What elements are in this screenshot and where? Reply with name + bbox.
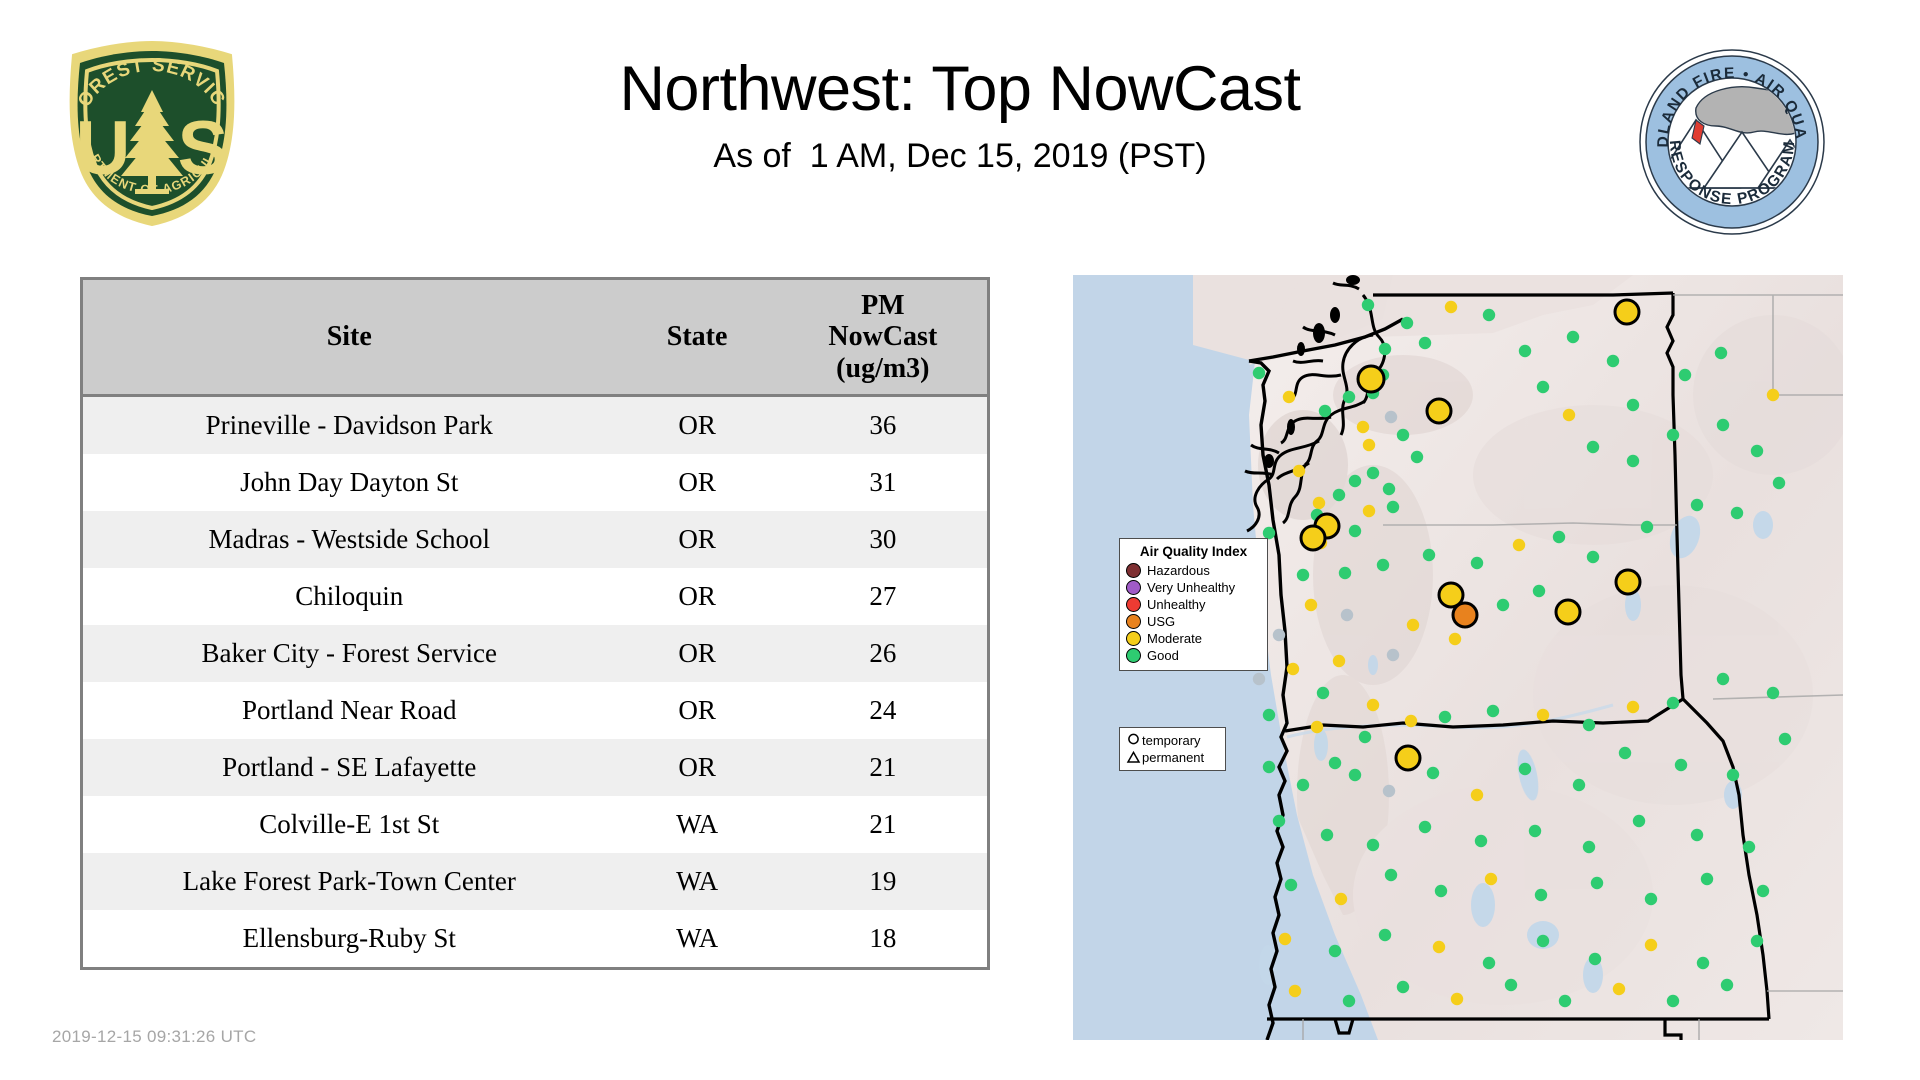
monitor-dot	[1779, 733, 1791, 745]
monitor-dot	[1419, 821, 1431, 833]
monitor-dot	[1397, 429, 1409, 441]
monitor-dot	[1383, 483, 1395, 495]
monitor-dot	[1497, 599, 1509, 611]
cell-pm: 19	[779, 853, 989, 910]
monitor-dot	[1377, 559, 1389, 571]
aqi-swatch-icon	[1126, 648, 1141, 663]
monitor-dot	[1701, 873, 1713, 885]
monitor-dot	[1485, 873, 1497, 885]
monitor-dot	[1319, 405, 1331, 417]
monitor-dot	[1405, 715, 1417, 727]
monitor-dot	[1589, 953, 1601, 965]
monitor-dot	[1675, 759, 1687, 771]
monitor-dot	[1273, 629, 1285, 641]
monitor-dot	[1407, 619, 1419, 631]
monitor-dot	[1519, 345, 1531, 357]
aqi-legend-label: USG	[1147, 614, 1175, 629]
monitor-dot	[1717, 419, 1729, 431]
usfs-letter-s: S	[178, 106, 229, 191]
monitor-dot	[1767, 687, 1779, 699]
monitor-dot	[1553, 531, 1565, 543]
pm-header-line1: PM	[861, 290, 905, 321]
column-header-state: State	[616, 279, 779, 396]
monitor-dot	[1379, 343, 1391, 355]
monitor-dot	[1627, 455, 1639, 467]
top-site-marker[interactable]	[1396, 746, 1420, 770]
column-header-site: Site	[82, 279, 616, 396]
monitor-dot	[1679, 369, 1691, 381]
monitor-dot	[1349, 769, 1361, 781]
monitor-dot	[1573, 779, 1585, 791]
cell-state: OR	[616, 682, 779, 739]
table-row: Baker City - Forest ServiceOR26	[82, 625, 989, 682]
monitor-dot	[1317, 687, 1329, 699]
cell-pm: 21	[779, 796, 989, 853]
usfs-shield-logo: FOREST SERVICE DEPARTMENT OF AGRICULTURE…	[55, 38, 250, 228]
monitor-dot	[1645, 893, 1657, 905]
monitor-dot	[1613, 983, 1625, 995]
page-title: Northwest: Top NowCast	[300, 55, 1620, 123]
table-row: Lake Forest Park-Town CenterWA19	[82, 853, 989, 910]
cell-state: WA	[616, 853, 779, 910]
monitor-dot	[1333, 489, 1345, 501]
cell-pm: 30	[779, 511, 989, 568]
cell-pm: 21	[779, 739, 989, 796]
monitor-dot	[1287, 663, 1299, 675]
monitor-dot	[1591, 877, 1603, 889]
monitor-dot	[1367, 467, 1379, 479]
monitor-dot	[1533, 585, 1545, 597]
monitor-dot	[1283, 391, 1295, 403]
monitor-dot	[1767, 389, 1779, 401]
legend-label-temporary: temporary	[1142, 733, 1201, 748]
aqi-legend-item-hazardous: Hazardous	[1126, 562, 1261, 579]
monitor-dot	[1607, 355, 1619, 367]
monitor-dot	[1619, 747, 1631, 759]
monitor-dot	[1471, 789, 1483, 801]
cell-site: Ellensburg-Ruby St	[82, 910, 616, 969]
monitor-dot	[1529, 825, 1541, 837]
monitor-dot	[1715, 347, 1727, 359]
aqi-legend-label: Good	[1147, 648, 1179, 663]
map-panel[interactable]: Air Quality Index HazardousVery Unhealth…	[1073, 275, 1843, 1040]
monitor-dot	[1297, 569, 1309, 581]
nowcast-table: Site State PM NowCast (ug/m3) Prineville…	[80, 277, 990, 970]
cell-state: OR	[616, 511, 779, 568]
monitor-dot	[1731, 507, 1743, 519]
monitor-dot	[1343, 995, 1355, 1007]
aqi-legend-label: Unhealthy	[1147, 597, 1206, 612]
monitor-dot	[1253, 367, 1265, 379]
top-site-marker[interactable]	[1556, 600, 1580, 624]
table-row: Colville-E 1st StWA21	[82, 796, 989, 853]
monitor-dot	[1751, 935, 1763, 947]
monitor-dot	[1691, 829, 1703, 841]
monitor-dot	[1311, 721, 1323, 733]
aqi-legend-label: Moderate	[1147, 631, 1202, 646]
table-header-row: Site State PM NowCast (ug/m3)	[82, 279, 989, 396]
cell-state: OR	[616, 568, 779, 625]
monitor-dot	[1743, 841, 1755, 853]
table-body: Prineville - Davidson ParkOR36John Day D…	[82, 396, 989, 969]
monitor-dot	[1583, 719, 1595, 731]
monitor-dot	[1385, 411, 1397, 423]
monitor-dot	[1439, 711, 1451, 723]
cell-state: OR	[616, 739, 779, 796]
monitor-dot	[1445, 301, 1457, 313]
cell-state: WA	[616, 910, 779, 969]
table-row: Portland - SE LafayetteOR21	[82, 739, 989, 796]
monitor-dot	[1645, 939, 1657, 951]
cell-pm: 24	[779, 682, 989, 739]
monitor-dot	[1641, 521, 1653, 533]
monitor-dot	[1691, 499, 1703, 511]
aqi-swatch-icon	[1126, 631, 1141, 646]
monitor-dot	[1627, 701, 1639, 713]
aqi-legend-label: Very Unhealthy	[1147, 580, 1235, 595]
cell-site: Portland - SE Lafayette	[82, 739, 616, 796]
top-site-marker[interactable]	[1615, 300, 1639, 324]
monitor-dot	[1263, 761, 1275, 773]
monitor-dot	[1349, 525, 1361, 537]
monitor-dot	[1321, 829, 1333, 841]
monitor-dot	[1363, 439, 1375, 451]
monitor-dot	[1343, 391, 1355, 403]
monitor-dot	[1757, 885, 1769, 897]
triangle-glyph-icon	[1125, 750, 1142, 765]
aqi-legend-label: Hazardous	[1147, 563, 1210, 578]
cell-site: Colville-E 1st St	[82, 796, 616, 853]
monitor-dot	[1721, 979, 1733, 991]
aqi-legend-title: Air Quality Index	[1126, 544, 1261, 559]
aqi-legend-item-very-unhealthy: Very Unhealthy	[1126, 579, 1261, 596]
monitor-dot	[1537, 935, 1549, 947]
table-row: Madras - Westside SchoolOR30	[82, 511, 989, 568]
monitor-dot	[1633, 815, 1645, 827]
monitor-dot	[1289, 985, 1301, 997]
cell-state: OR	[616, 454, 779, 511]
monitor-dot	[1423, 549, 1435, 561]
monitor-type-legend: temporary permanent	[1119, 727, 1226, 771]
table-head: Site State PM NowCast (ug/m3)	[82, 279, 989, 396]
monitor-dot	[1313, 497, 1325, 509]
top-site-marker[interactable]	[1616, 570, 1640, 594]
aqi-legend-item-unhealthy: Unhealthy	[1126, 596, 1261, 613]
cell-site: Madras - Westside School	[82, 511, 616, 568]
cell-pm: 31	[779, 454, 989, 511]
monitor-dot	[1487, 705, 1499, 717]
cell-state: OR	[616, 625, 779, 682]
monitor-dot	[1401, 317, 1413, 329]
monitor-dot	[1567, 331, 1579, 343]
monitor-dot	[1293, 465, 1305, 477]
monitor-dot	[1587, 441, 1599, 453]
monitor-dot	[1717, 673, 1729, 685]
aqi-legend-item-good: Good	[1126, 647, 1261, 664]
monitor-dot	[1385, 869, 1397, 881]
monitor-dot	[1773, 477, 1785, 489]
top-site-marker[interactable]	[1358, 366, 1384, 392]
monitor-dot	[1363, 505, 1375, 517]
monitor-dot	[1667, 429, 1679, 441]
monitor-dot	[1367, 839, 1379, 851]
cell-pm: 26	[779, 625, 989, 682]
usfs-letter-u: U	[76, 106, 131, 191]
pm-header-line2: NowCast	[828, 321, 937, 352]
monitor-dot	[1627, 399, 1639, 411]
monitor-dot	[1383, 785, 1395, 797]
cell-site: Prineville - Davidson Park	[82, 396, 616, 455]
monitor-dot	[1435, 885, 1447, 897]
monitor-dot	[1362, 299, 1374, 311]
monitor-dot	[1483, 957, 1495, 969]
monitor-dot	[1253, 673, 1265, 685]
cell-pm: 18	[779, 910, 989, 969]
monitor-dot	[1273, 815, 1285, 827]
legend-row-permanent: permanent	[1125, 749, 1220, 766]
monitor-dot	[1263, 709, 1275, 721]
monitor-dot	[1335, 893, 1347, 905]
legend-label-permanent: permanent	[1142, 750, 1204, 765]
monitor-dot	[1339, 567, 1351, 579]
monitor-dot	[1697, 957, 1709, 969]
aqi-legend-item-usg: USG	[1126, 613, 1261, 630]
top-site-marker[interactable]	[1301, 526, 1325, 550]
aqi-swatch-icon	[1126, 597, 1141, 612]
monitor-dot	[1333, 655, 1345, 667]
nowcast-table-panel: Site State PM NowCast (ug/m3) Prineville…	[80, 277, 990, 970]
cell-site: John Day Dayton St	[82, 454, 616, 511]
table-row: John Day Dayton StOR31	[82, 454, 989, 511]
aqi-swatch-icon	[1126, 563, 1141, 578]
monitor-dot	[1587, 551, 1599, 563]
table-row: Portland Near RoadOR24	[82, 682, 989, 739]
aqi-swatch-icon	[1126, 614, 1141, 629]
monitor-dot	[1667, 995, 1679, 1007]
monitor-dot	[1279, 933, 1291, 945]
aqi-legend-item-moderate: Moderate	[1126, 630, 1261, 647]
aqi-legend: Air Quality Index HazardousVery Unhealth…	[1119, 538, 1268, 671]
monitor-dot	[1305, 599, 1317, 611]
wfaqrp-logo: WILDLAND FIRE • AIR QUALITY RESPONSE PRO…	[1638, 48, 1826, 236]
monitor-dot	[1563, 409, 1575, 421]
cell-site: Portland Near Road	[82, 682, 616, 739]
page-header: FOREST SERVICE DEPARTMENT OF AGRICULTURE…	[0, 0, 1920, 270]
monitor-dot	[1751, 445, 1763, 457]
monitor-dot	[1349, 475, 1361, 487]
monitor-dot	[1537, 709, 1549, 721]
monitor-dot	[1397, 981, 1409, 993]
monitor-dot	[1471, 557, 1483, 569]
monitor-dot	[1419, 337, 1431, 349]
cell-site: Lake Forest Park-Town Center	[82, 853, 616, 910]
monitor-dot	[1505, 979, 1517, 991]
cell-state: WA	[616, 796, 779, 853]
footer-timestamp: 2019-12-15 09:31:26 UTC	[52, 1027, 256, 1047]
monitor-dot	[1357, 421, 1369, 433]
monitor-dot	[1519, 763, 1531, 775]
monitor-dot	[1329, 757, 1341, 769]
cell-pm: 36	[779, 396, 989, 455]
monitor-dot	[1329, 945, 1341, 957]
monitor-dot	[1367, 699, 1379, 711]
aqi-swatch-icon	[1126, 580, 1141, 595]
monitor-dot	[1411, 451, 1423, 463]
monitor-dot	[1449, 633, 1461, 645]
table-row: ChiloquinOR27	[82, 568, 989, 625]
monitor-dot	[1387, 501, 1399, 513]
cell-site: Baker City - Forest Service	[82, 625, 616, 682]
cell-pm: 27	[779, 568, 989, 625]
pm-header-line3: (ug/m3)	[836, 353, 929, 384]
aqi-legend-rows: HazardousVery UnhealthyUnhealthyUSGModer…	[1126, 562, 1261, 664]
monitor-dot	[1427, 767, 1439, 779]
monitor-dot	[1483, 309, 1495, 321]
monitor-dot	[1387, 649, 1399, 661]
monitor-dot	[1359, 731, 1371, 743]
top-site-marker[interactable]	[1427, 399, 1451, 423]
monitor-dot	[1341, 609, 1353, 621]
table-row: Prineville - Davidson ParkOR36	[82, 396, 989, 455]
monitor-dot	[1535, 889, 1547, 901]
cell-site: Chiloquin	[82, 568, 616, 625]
monitor-dot	[1537, 381, 1549, 393]
monitor-dot	[1513, 539, 1525, 551]
monitor-dot	[1583, 841, 1595, 853]
monitor-dot	[1297, 779, 1309, 791]
monitor-dot	[1667, 697, 1679, 709]
monitor-dot	[1379, 929, 1391, 941]
legend-row-temporary: temporary	[1125, 732, 1220, 749]
top-site-marker[interactable]	[1453, 603, 1477, 627]
circle-glyph-icon	[1125, 733, 1142, 748]
monitor-dot	[1451, 993, 1463, 1005]
monitor-dot	[1727, 769, 1739, 781]
column-header-pm-nowcast: PM NowCast (ug/m3)	[779, 279, 989, 396]
monitor-dot	[1475, 835, 1487, 847]
monitor-dot	[1433, 941, 1445, 953]
monitor-dot	[1559, 995, 1571, 1007]
cell-state: OR	[616, 396, 779, 455]
table-row: Ellensburg-Ruby StWA18	[82, 910, 989, 969]
page-subtitle: As of 1 AM, Dec 15, 2019 (PST)	[300, 137, 1620, 176]
monitor-dot	[1285, 879, 1297, 891]
title-block: Northwest: Top NowCast As of 1 AM, Dec 1…	[300, 55, 1620, 176]
